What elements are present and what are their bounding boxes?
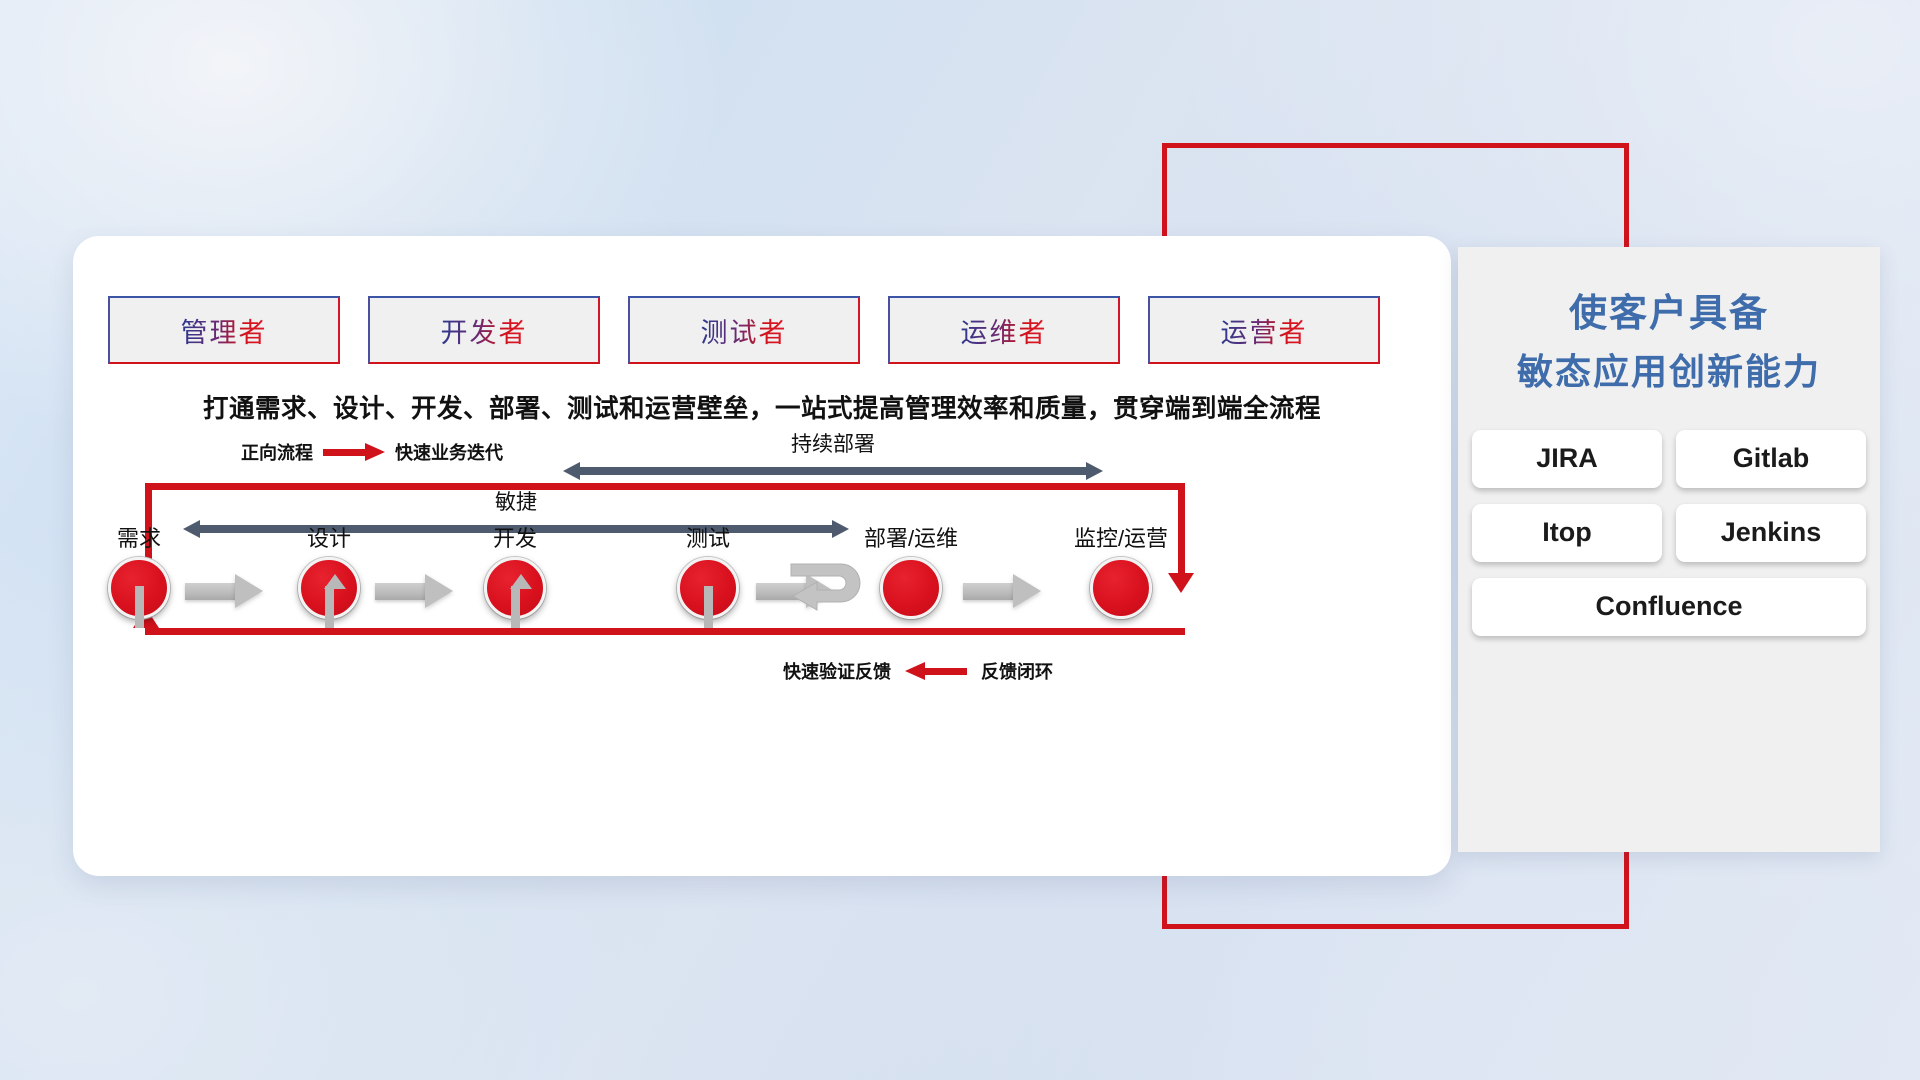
tool-pill-jira[interactable]: JIRA	[1472, 430, 1662, 488]
arrow-shaft	[375, 583, 427, 600]
pipeline-node-monitor-operate[interactable]: 监控/运营	[1061, 521, 1181, 619]
forward-flow-caption: 正向流程 快速业务迭代	[241, 439, 503, 465]
arrow-shaft	[185, 583, 237, 600]
role-label: 测试者	[701, 311, 788, 350]
role-box-manager[interactable]: 管理者	[108, 296, 340, 364]
side-panel-title: 使客户具备 敏态应用创新能力	[1458, 285, 1880, 400]
feedback-caption: 快速验证反馈 反馈闭环	[783, 658, 1053, 684]
node-stem	[135, 586, 144, 628]
role-label: 运营者	[1221, 311, 1308, 350]
role-label: 管理者	[181, 311, 268, 350]
role-label: 开发者	[441, 311, 528, 350]
arrow-shaft	[963, 583, 1015, 600]
iteration-loop-arrow-icon	[779, 562, 875, 618]
arrow-head-icon	[425, 574, 453, 608]
pipeline-node-label: 部署/运维	[851, 521, 971, 553]
pipeline-node-dot	[880, 557, 942, 619]
tool-pill-gitlab[interactable]: Gitlab	[1676, 430, 1866, 488]
continuous-deploy-label: 持续部署	[563, 428, 1103, 458]
role-box-operations[interactable]: 运营者	[1148, 296, 1380, 364]
arrow-head-left-icon	[563, 462, 580, 480]
node-stem	[325, 586, 334, 628]
side-panel-title-line1: 使客户具备	[1458, 285, 1880, 344]
tool-pill-grid: JIRA Gitlab Itop Jenkins Confluence	[1472, 430, 1866, 636]
description-text: 打通需求、设计、开发、部署、测试和运营壁垒，一站式提高管理效率和质量，贯穿端到端…	[73, 388, 1451, 425]
connector-arrow-icon	[375, 574, 453, 608]
node-stem-head-icon	[324, 574, 346, 589]
pipeline-node-label: 需求	[79, 521, 199, 553]
pipeline-node-dot	[1090, 557, 1152, 619]
agile-label: 敏捷	[183, 486, 849, 516]
pipeline-node-label: 设计	[269, 521, 389, 553]
arrow-head-icon	[1013, 574, 1041, 608]
tools-side-panel: 使客户具备 敏态应用创新能力 JIRA Gitlab Itop Jenkins …	[1458, 247, 1880, 852]
arrow-right-red-icon	[323, 445, 385, 459]
pipeline-node-label: 监控/运营	[1061, 521, 1181, 553]
feedback-left-label: 快速验证反馈	[783, 658, 891, 684]
arrow-shaft	[579, 467, 1087, 475]
node-stem	[511, 586, 520, 628]
main-content-card: 管理者 开发者 测试者 运维者 运营者 打通需求、设计、开发、部署、测试和运营壁…	[73, 236, 1451, 876]
role-box-developer[interactable]: 开发者	[368, 296, 600, 364]
tool-pill-jenkins[interactable]: Jenkins	[1676, 504, 1866, 562]
side-panel-title-line2: 敏态应用创新能力	[1458, 344, 1880, 400]
continuous-deploy-arrow: 持续部署	[563, 462, 1103, 480]
forward-flow-left-label: 正向流程	[241, 439, 313, 465]
node-stem	[704, 586, 713, 628]
tool-pill-confluence[interactable]: Confluence	[1472, 578, 1866, 636]
role-label: 运维者	[961, 311, 1048, 350]
pipeline-node-label: 测试	[648, 521, 768, 553]
feedback-right-label: 反馈闭环	[981, 658, 1053, 684]
arrow-left-red-icon	[905, 664, 967, 678]
tool-pill-itop[interactable]: Itop	[1472, 504, 1662, 562]
forward-flow-right-label: 快速业务迭代	[395, 439, 503, 465]
slide-canvas: 管理者 开发者 测试者 运维者 运营者 打通需求、设计、开发、部署、测试和运营壁…	[0, 0, 1920, 1080]
connector-arrow-icon	[185, 574, 263, 608]
role-box-row: 管理者 开发者 测试者 运维者 运营者	[108, 296, 1380, 364]
pipeline-node-label: 开发	[455, 521, 575, 553]
connector-arrow-icon	[963, 574, 1041, 608]
role-box-ops[interactable]: 运维者	[888, 296, 1120, 364]
node-stem-head-icon	[510, 574, 532, 589]
arrow-head-icon	[235, 574, 263, 608]
arrow-head-right-icon	[1086, 462, 1103, 480]
role-box-tester[interactable]: 测试者	[628, 296, 860, 364]
